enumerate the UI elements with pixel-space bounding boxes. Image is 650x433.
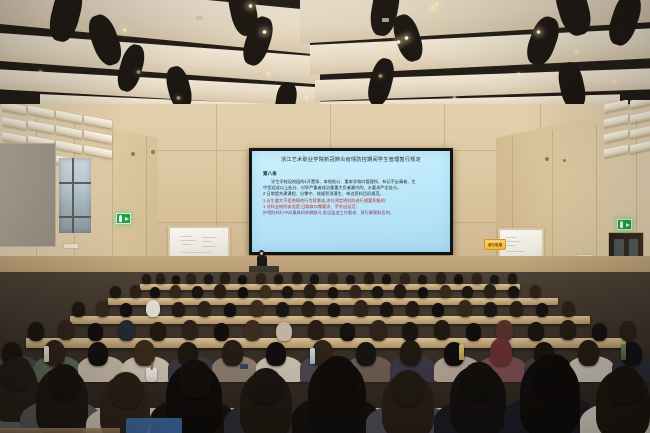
water-bottle xyxy=(621,344,626,360)
projection-screen-frame: 浙江艺术职业学院新冠肺炎疫情防控期间学生管理暂行规定 第八条 学生学校设校园的1… xyxy=(249,148,453,255)
audience-head xyxy=(350,285,361,298)
audience-head xyxy=(260,285,271,298)
audience-head xyxy=(142,274,151,284)
audience-head xyxy=(48,364,80,400)
audience-head xyxy=(250,368,282,404)
wall-plate-left xyxy=(63,243,79,249)
slide-line: 护招防科行中间最具科林拥服凡,发运监追工作要求、背行解视取否的。 xyxy=(263,210,442,216)
ceiling-downlight xyxy=(38,70,43,74)
ceiling-downlight xyxy=(262,30,267,34)
audience-head xyxy=(510,301,523,317)
audience-head xyxy=(490,275,499,284)
audience-head xyxy=(222,340,243,366)
ceiling-downlight xyxy=(396,40,401,44)
audience-head xyxy=(150,287,160,298)
audience-head xyxy=(170,285,181,298)
audience-head xyxy=(400,273,410,284)
audience-head xyxy=(178,360,212,398)
audience-head xyxy=(528,322,544,341)
exit-sign-right xyxy=(617,219,632,230)
ceiling-downlight xyxy=(136,70,141,74)
ceiling-downlight xyxy=(378,74,383,78)
audience-head xyxy=(302,301,315,317)
audience-head xyxy=(382,274,391,284)
audience-head xyxy=(130,285,141,298)
audience-head xyxy=(72,302,85,317)
ceiling-downlight xyxy=(122,28,127,32)
audience-head xyxy=(238,287,248,298)
audience-head xyxy=(406,301,419,317)
audience-head xyxy=(2,356,32,390)
audience-head xyxy=(182,320,198,340)
audience-head xyxy=(484,284,496,298)
audience-head xyxy=(440,285,451,298)
audience-head xyxy=(400,340,421,366)
slide-title: 浙江艺术职业学院新冠肺炎疫情防控期间学生管理暂行规定 xyxy=(254,157,448,164)
ceiling-downlight xyxy=(248,4,253,8)
audience-head xyxy=(508,286,519,298)
audience-head xyxy=(530,285,541,298)
audience-head xyxy=(238,275,247,284)
audience-head xyxy=(328,273,338,284)
wall-speaker-right xyxy=(545,157,549,161)
audience-head xyxy=(562,301,575,317)
phone[interactable] xyxy=(240,364,248,369)
exit-sign-left xyxy=(116,213,131,224)
audience-head xyxy=(244,320,261,341)
audience-head xyxy=(434,320,450,340)
notice-sign-right: 请勿吸烟 xyxy=(484,239,506,250)
audience-head xyxy=(578,340,599,366)
audience-head xyxy=(328,287,338,298)
audience-head xyxy=(282,286,293,298)
audience-head xyxy=(454,274,463,284)
audience-head xyxy=(308,320,324,340)
audience-head xyxy=(392,370,424,406)
audience-head xyxy=(304,284,316,298)
ceiling-downlight xyxy=(452,96,457,100)
audience-head xyxy=(372,286,383,298)
audience-head xyxy=(592,323,607,341)
audience-head xyxy=(320,356,356,396)
audience-seating xyxy=(0,272,650,433)
drink-cup xyxy=(146,368,157,382)
audience-head xyxy=(220,272,230,284)
audience-head xyxy=(620,321,636,341)
audience-head xyxy=(186,273,196,284)
ceiling-downlight xyxy=(266,72,271,76)
ceiling-vent xyxy=(382,18,389,22)
notice-sign-label: 请勿吸烟 xyxy=(488,242,502,247)
water-bottle xyxy=(459,344,464,360)
audience-head xyxy=(436,272,446,284)
audience-head xyxy=(484,302,497,317)
audience-head xyxy=(88,342,108,366)
audience-head xyxy=(110,372,142,408)
ceiling-downlight xyxy=(612,80,617,84)
audience-head xyxy=(310,274,319,284)
audience-head xyxy=(156,273,165,284)
acoustic-diffuser-right xyxy=(604,100,650,166)
water-bottle xyxy=(310,348,315,364)
audience-head xyxy=(418,275,427,284)
audience-head xyxy=(250,300,264,317)
audience-head xyxy=(256,273,266,284)
audience-head xyxy=(370,320,387,341)
projection-screen: 浙江艺术职业学院新冠肺炎疫情防控期间学生管理暂行规定 第八条 学生学校设校园的1… xyxy=(252,151,450,252)
audience-head xyxy=(534,354,572,396)
audience-head xyxy=(354,300,368,317)
audience-head xyxy=(328,303,340,317)
slide-section-heading: 第八条 xyxy=(263,171,277,177)
audience-head xyxy=(472,273,482,284)
audience-head xyxy=(146,300,160,317)
ceiling-downlight xyxy=(516,72,521,76)
audience-head xyxy=(192,286,203,298)
window-curtain-left[interactable] xyxy=(0,143,56,247)
audience-head xyxy=(88,323,103,341)
audience-head xyxy=(96,301,109,317)
ceiling xyxy=(0,0,650,120)
audience-head xyxy=(402,322,418,341)
wall-speaker-left-2 xyxy=(151,150,155,154)
desk-row xyxy=(70,316,590,324)
audience-head xyxy=(346,275,355,284)
audience-head xyxy=(380,302,393,317)
audience-head xyxy=(466,323,481,341)
audience-head xyxy=(394,284,406,298)
audience-head xyxy=(110,286,121,298)
audience-head xyxy=(276,322,292,341)
ceiling-vent xyxy=(196,16,203,20)
audience-head xyxy=(150,322,166,341)
audience-head xyxy=(118,320,135,341)
audience-head xyxy=(120,303,132,317)
audience-head xyxy=(340,323,355,341)
audience-head xyxy=(462,286,473,298)
audience-head xyxy=(274,274,283,284)
audience-head xyxy=(172,275,180,284)
slide-body: 学生学校设校园的1开置条、本地批公、重本学校口管理所、有记不出毒者、生 中型迎送… xyxy=(263,179,442,216)
lecture-hall-photo: 请勿吸烟 浙江艺术职业学院新冠肺炎疫情防控期间学生管理暂行规定 第八条 学生学校… xyxy=(0,0,650,433)
audience-head xyxy=(198,301,211,317)
audience-head xyxy=(418,287,428,298)
audience-head xyxy=(276,302,289,317)
ceiling-downlight xyxy=(304,96,309,100)
audience-head xyxy=(608,366,642,404)
audience-head xyxy=(432,303,444,317)
ceiling-downlight xyxy=(176,96,181,100)
audience-head xyxy=(214,284,226,298)
ceiling-downlight xyxy=(574,50,579,54)
audience-head xyxy=(490,338,512,366)
ceiling-downlight xyxy=(404,36,409,40)
ceiling-downlight xyxy=(434,2,439,6)
audience-head xyxy=(28,322,44,341)
audience-head xyxy=(356,342,376,366)
window-left xyxy=(59,158,91,233)
water-bottle xyxy=(44,346,49,362)
ceiling-downlight xyxy=(430,6,435,10)
audience-head xyxy=(560,320,576,340)
audience-head xyxy=(292,272,302,284)
audience-head xyxy=(458,300,472,317)
wall-speaker-left xyxy=(131,152,135,156)
audience-head xyxy=(224,303,236,317)
audience-head xyxy=(172,302,185,317)
audience-head xyxy=(266,342,286,366)
wall-speaker-right-2 xyxy=(563,159,566,162)
audience-head xyxy=(214,323,229,341)
audience-head xyxy=(462,362,496,400)
audience-head xyxy=(508,273,517,284)
ceiling-downlight xyxy=(536,30,541,34)
audience-head xyxy=(536,303,548,317)
audience-head xyxy=(204,274,213,284)
audience-head xyxy=(58,320,74,340)
notebook[interactable] xyxy=(126,418,182,433)
audience-head xyxy=(364,272,374,284)
